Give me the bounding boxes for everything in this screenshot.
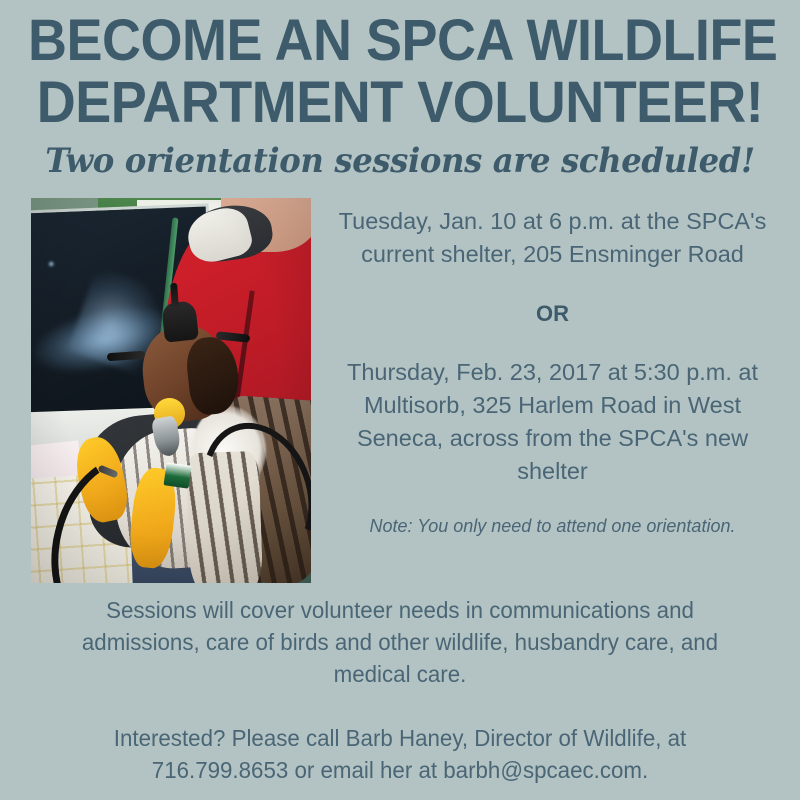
photo-vignette bbox=[31, 198, 311, 583]
falcon-photo bbox=[31, 198, 311, 583]
volunteer-flyer: BECOME AN SPCA WILDLIFE DEPARTMENT VOLUN… bbox=[0, 0, 800, 800]
session-two: Thursday, Feb. 23, 2017 at 5:30 p.m. at … bbox=[325, 356, 780, 488]
headline-line-2: DEPARTMENT VOLUNTEER! bbox=[28, 72, 772, 134]
subtitle: Two orientation sessions are scheduled! bbox=[20, 140, 780, 182]
page-title: BECOME AN SPCA WILDLIFE DEPARTMENT VOLUN… bbox=[28, 10, 772, 134]
session-note: Note: You only need to attend one orient… bbox=[325, 514, 780, 538]
headline-line-1: BECOME AN SPCA WILDLIFE bbox=[28, 10, 772, 72]
coverage-paragraph: Sessions will cover volunteer needs in c… bbox=[51, 594, 749, 690]
session-list: Tuesday, Jan. 10 at 6 p.m. at the SPCA's… bbox=[325, 205, 780, 538]
photo-scene bbox=[31, 198, 311, 583]
session-divider: OR bbox=[325, 297, 780, 330]
session-one: Tuesday, Jan. 10 at 6 p.m. at the SPCA's… bbox=[325, 205, 780, 271]
contact-paragraph: Interested? Please call Barb Haney, Dire… bbox=[51, 722, 749, 786]
